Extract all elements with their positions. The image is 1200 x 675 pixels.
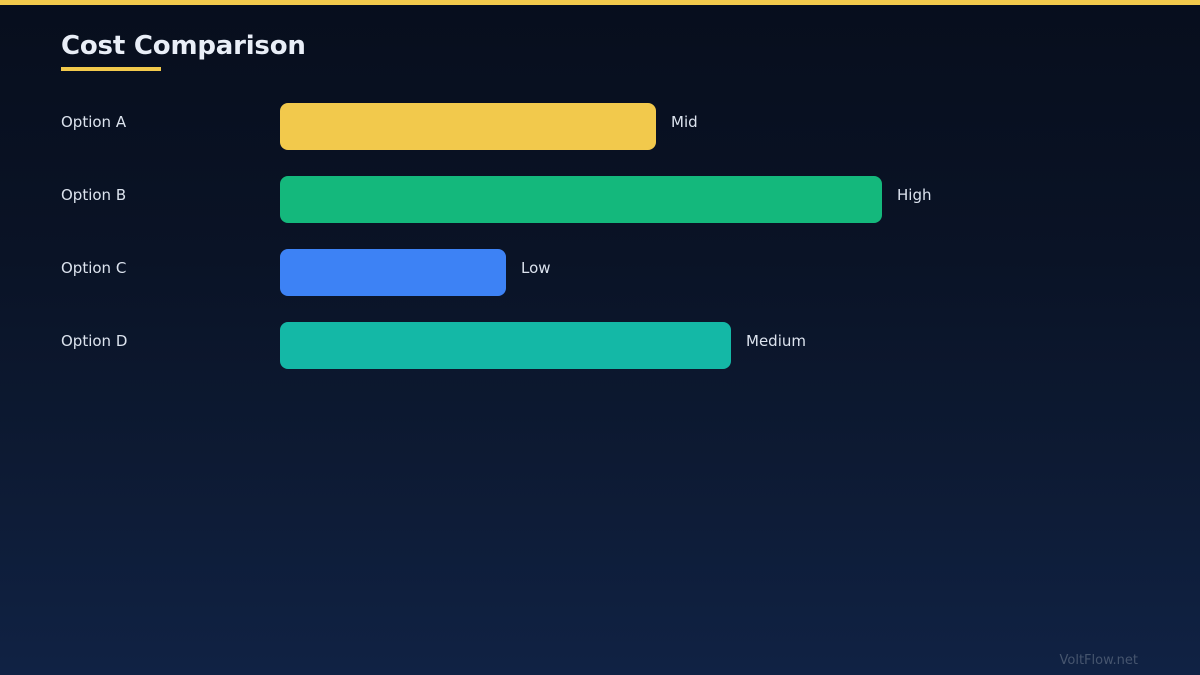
bar-value-label: Medium: [746, 331, 806, 351]
bar-value-label: Mid: [671, 112, 698, 132]
bar-track: [280, 103, 656, 150]
bar-track: [280, 249, 506, 296]
bar-fill[interactable]: [280, 103, 656, 150]
chart-row: Option D Medium: [0, 314, 1200, 387]
bar-category-label: Option B: [61, 185, 126, 205]
chart-row: Option A Mid: [0, 95, 1200, 168]
watermark: VoltFlow.net: [1060, 652, 1139, 670]
bar-fill[interactable]: [280, 322, 731, 369]
title-block: Cost Comparison: [61, 30, 306, 71]
chart-row: Option C Low: [0, 241, 1200, 314]
bar-fill[interactable]: [280, 176, 882, 223]
bar-track: [280, 176, 882, 223]
bar-category-label: Option C: [61, 258, 126, 278]
page-title: Cost Comparison: [61, 30, 306, 62]
bar-category-label: Option D: [61, 331, 127, 351]
bar-track: [280, 322, 731, 369]
chart-row: Option B High: [0, 168, 1200, 241]
top-accent-bar: [0, 0, 1200, 5]
bar-fill[interactable]: [280, 249, 506, 296]
slide-canvas: Cost Comparison Option A Mid Option B Hi…: [0, 0, 1200, 675]
title-underline: [61, 67, 161, 71]
bar-chart: Option A Mid Option B High Option C Low …: [0, 95, 1200, 387]
bar-category-label: Option A: [61, 112, 126, 132]
bar-value-label: Low: [521, 258, 551, 278]
bar-value-label: High: [897, 185, 931, 205]
